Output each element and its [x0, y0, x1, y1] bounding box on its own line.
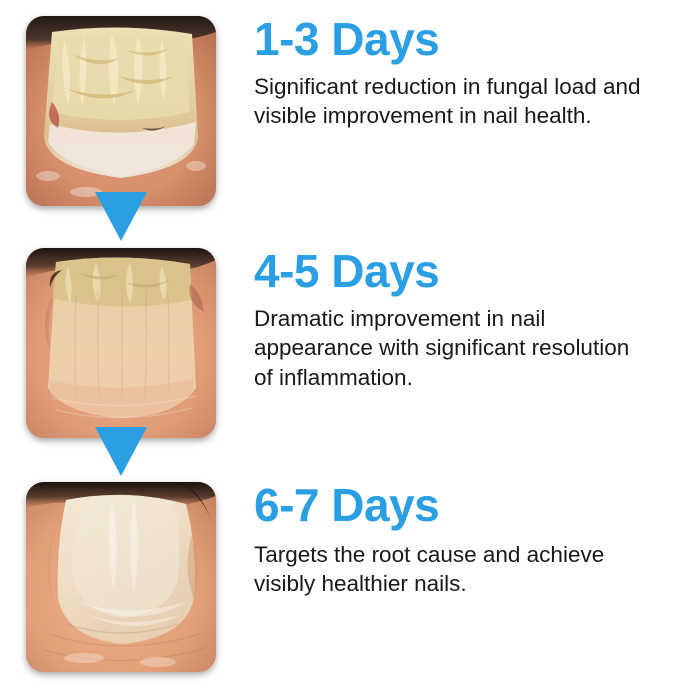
timeline-step-3: 6-7 Days Targets the root cause and achi… — [0, 482, 700, 678]
step-2-text-block: 4-5 Days Dramatic improvement in nail ap… — [254, 248, 700, 392]
step-3-heading: 6-7 Days — [254, 482, 688, 528]
nail-photo-severe-fungal-infection — [26, 16, 216, 206]
step-1-description: Significant reduction in fungal load and… — [254, 72, 654, 131]
arrow-down-icon-1 — [95, 192, 147, 241]
nail-photo-partial-improvement — [26, 248, 216, 438]
step-1-heading: 1-3 Days — [254, 16, 688, 62]
timeline-step-2: 4-5 Days Dramatic improvement in nail ap… — [0, 248, 700, 444]
step-1-text-block: 1-3 Days Significant reduction in fungal… — [254, 16, 700, 131]
step-3-description: Targets the root cause and achieve visib… — [254, 540, 654, 599]
step-3-text-block: 6-7 Days Targets the root cause and achi… — [254, 482, 700, 599]
nail-photo-3-graphic — [26, 482, 216, 672]
arrow-down-icon-2 — [95, 427, 147, 476]
timeline-step-1: 1-3 Days Significant reduction in fungal… — [0, 16, 700, 212]
step-2-heading: 4-5 Days — [254, 248, 688, 294]
step-2-description: Dramatic improvement in nail appearance … — [254, 304, 654, 392]
nail-photo-1-graphic — [26, 16, 216, 206]
treatment-timeline-infographic: 1-3 Days Significant reduction in fungal… — [0, 0, 700, 700]
nail-photo-2-graphic — [26, 248, 216, 438]
nail-photo-healthy-clear — [26, 482, 216, 672]
